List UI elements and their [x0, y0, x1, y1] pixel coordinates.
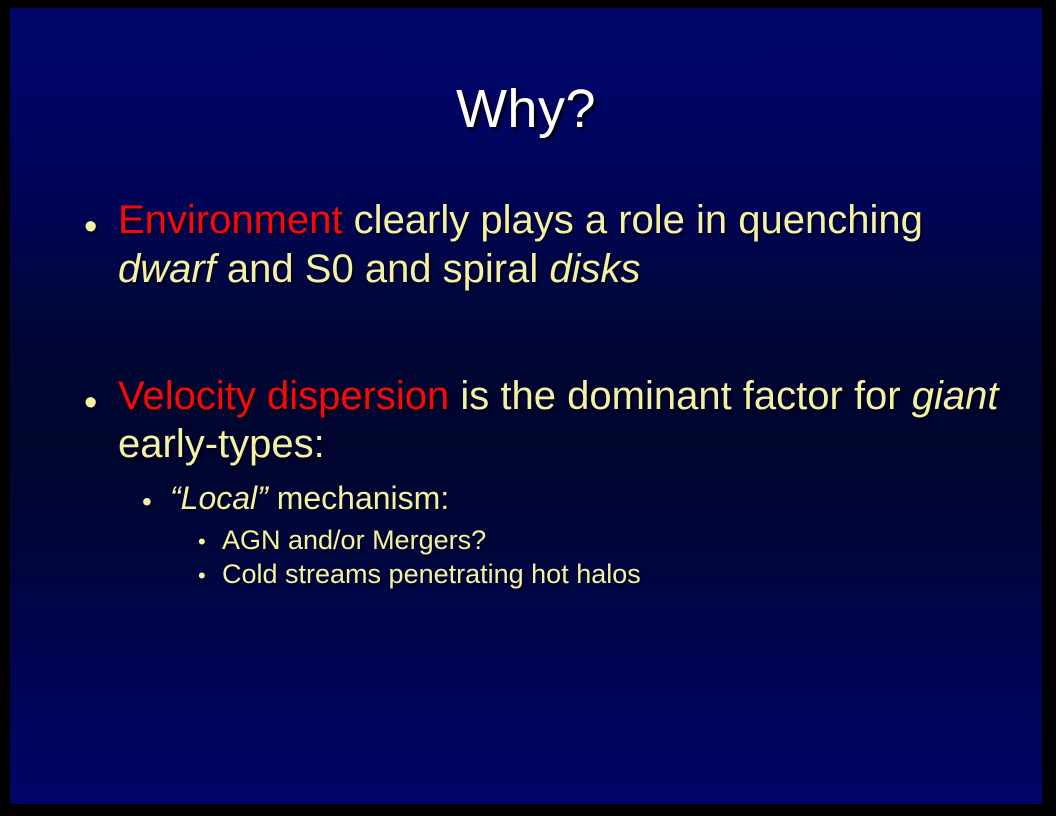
bullet-item-local-mechanism: • “Local” mechanism:	[142, 479, 1002, 518]
bullet-text-local-mechanism: “Local” mechanism:	[170, 479, 1002, 518]
bullet-text-cold-streams: Cold streams penetrating hot halos	[222, 558, 1002, 591]
bullet-segment-italic-dwarf: dwarf	[118, 247, 216, 291]
bullet-marker-icon: •	[198, 558, 222, 587]
bullet-segment-normal: mechanism:	[268, 480, 449, 516]
bullet-text-agn-mergers: AGN and/or Mergers?	[222, 524, 1002, 557]
bullet-item-environment: • Environment clearly plays a role in qu…	[84, 196, 1002, 294]
sub-bullet-spacer	[84, 469, 1002, 479]
bullet-marker-icon: •	[84, 372, 118, 422]
bullet-marker-icon: •	[142, 479, 170, 516]
bullet-item-agn-mergers: • AGN and/or Mergers?	[198, 524, 1002, 557]
bullet-segment-italic-disks: disks	[549, 247, 640, 291]
bullet-gap-spacer	[84, 294, 1002, 372]
bullet-segment-italic-local: “Local”	[170, 480, 268, 516]
bullet-text-environment: Environment clearly plays a role in quen…	[118, 196, 1002, 294]
slide-frame: Why? • Environment clearly plays a role …	[0, 0, 1056, 816]
bullet-item-velocity-dispersion: • Velocity dispersion is the dominant fa…	[84, 372, 1002, 470]
bullet-marker-icon: •	[84, 196, 118, 246]
bullet-segment-normal: clearly plays a role in quenching	[343, 198, 923, 242]
bullet-item-cold-streams: • Cold streams penetrating hot halos	[198, 558, 1002, 591]
bullet-marker-icon: •	[198, 524, 222, 553]
bullet-segment-accent: Environment	[118, 198, 343, 242]
bullet-text-velocity-dispersion: Velocity dispersion is the dominant fact…	[118, 372, 1002, 470]
bullet-segment-normal-2: and S0 and spiral	[216, 247, 550, 291]
bullet-segment-italic-giant: giant	[912, 374, 999, 418]
slide-title: Why?	[10, 82, 1042, 136]
bullet-segment-normal: is the dominant factor for	[449, 374, 911, 418]
bullet-segment-accent: Velocity dispersion	[118, 374, 449, 418]
slide-body: • Environment clearly plays a role in qu…	[84, 196, 1002, 591]
slide-canvas: Why? • Environment clearly plays a role …	[10, 8, 1042, 804]
bullet-segment-normal-2: early-types:	[118, 422, 325, 466]
